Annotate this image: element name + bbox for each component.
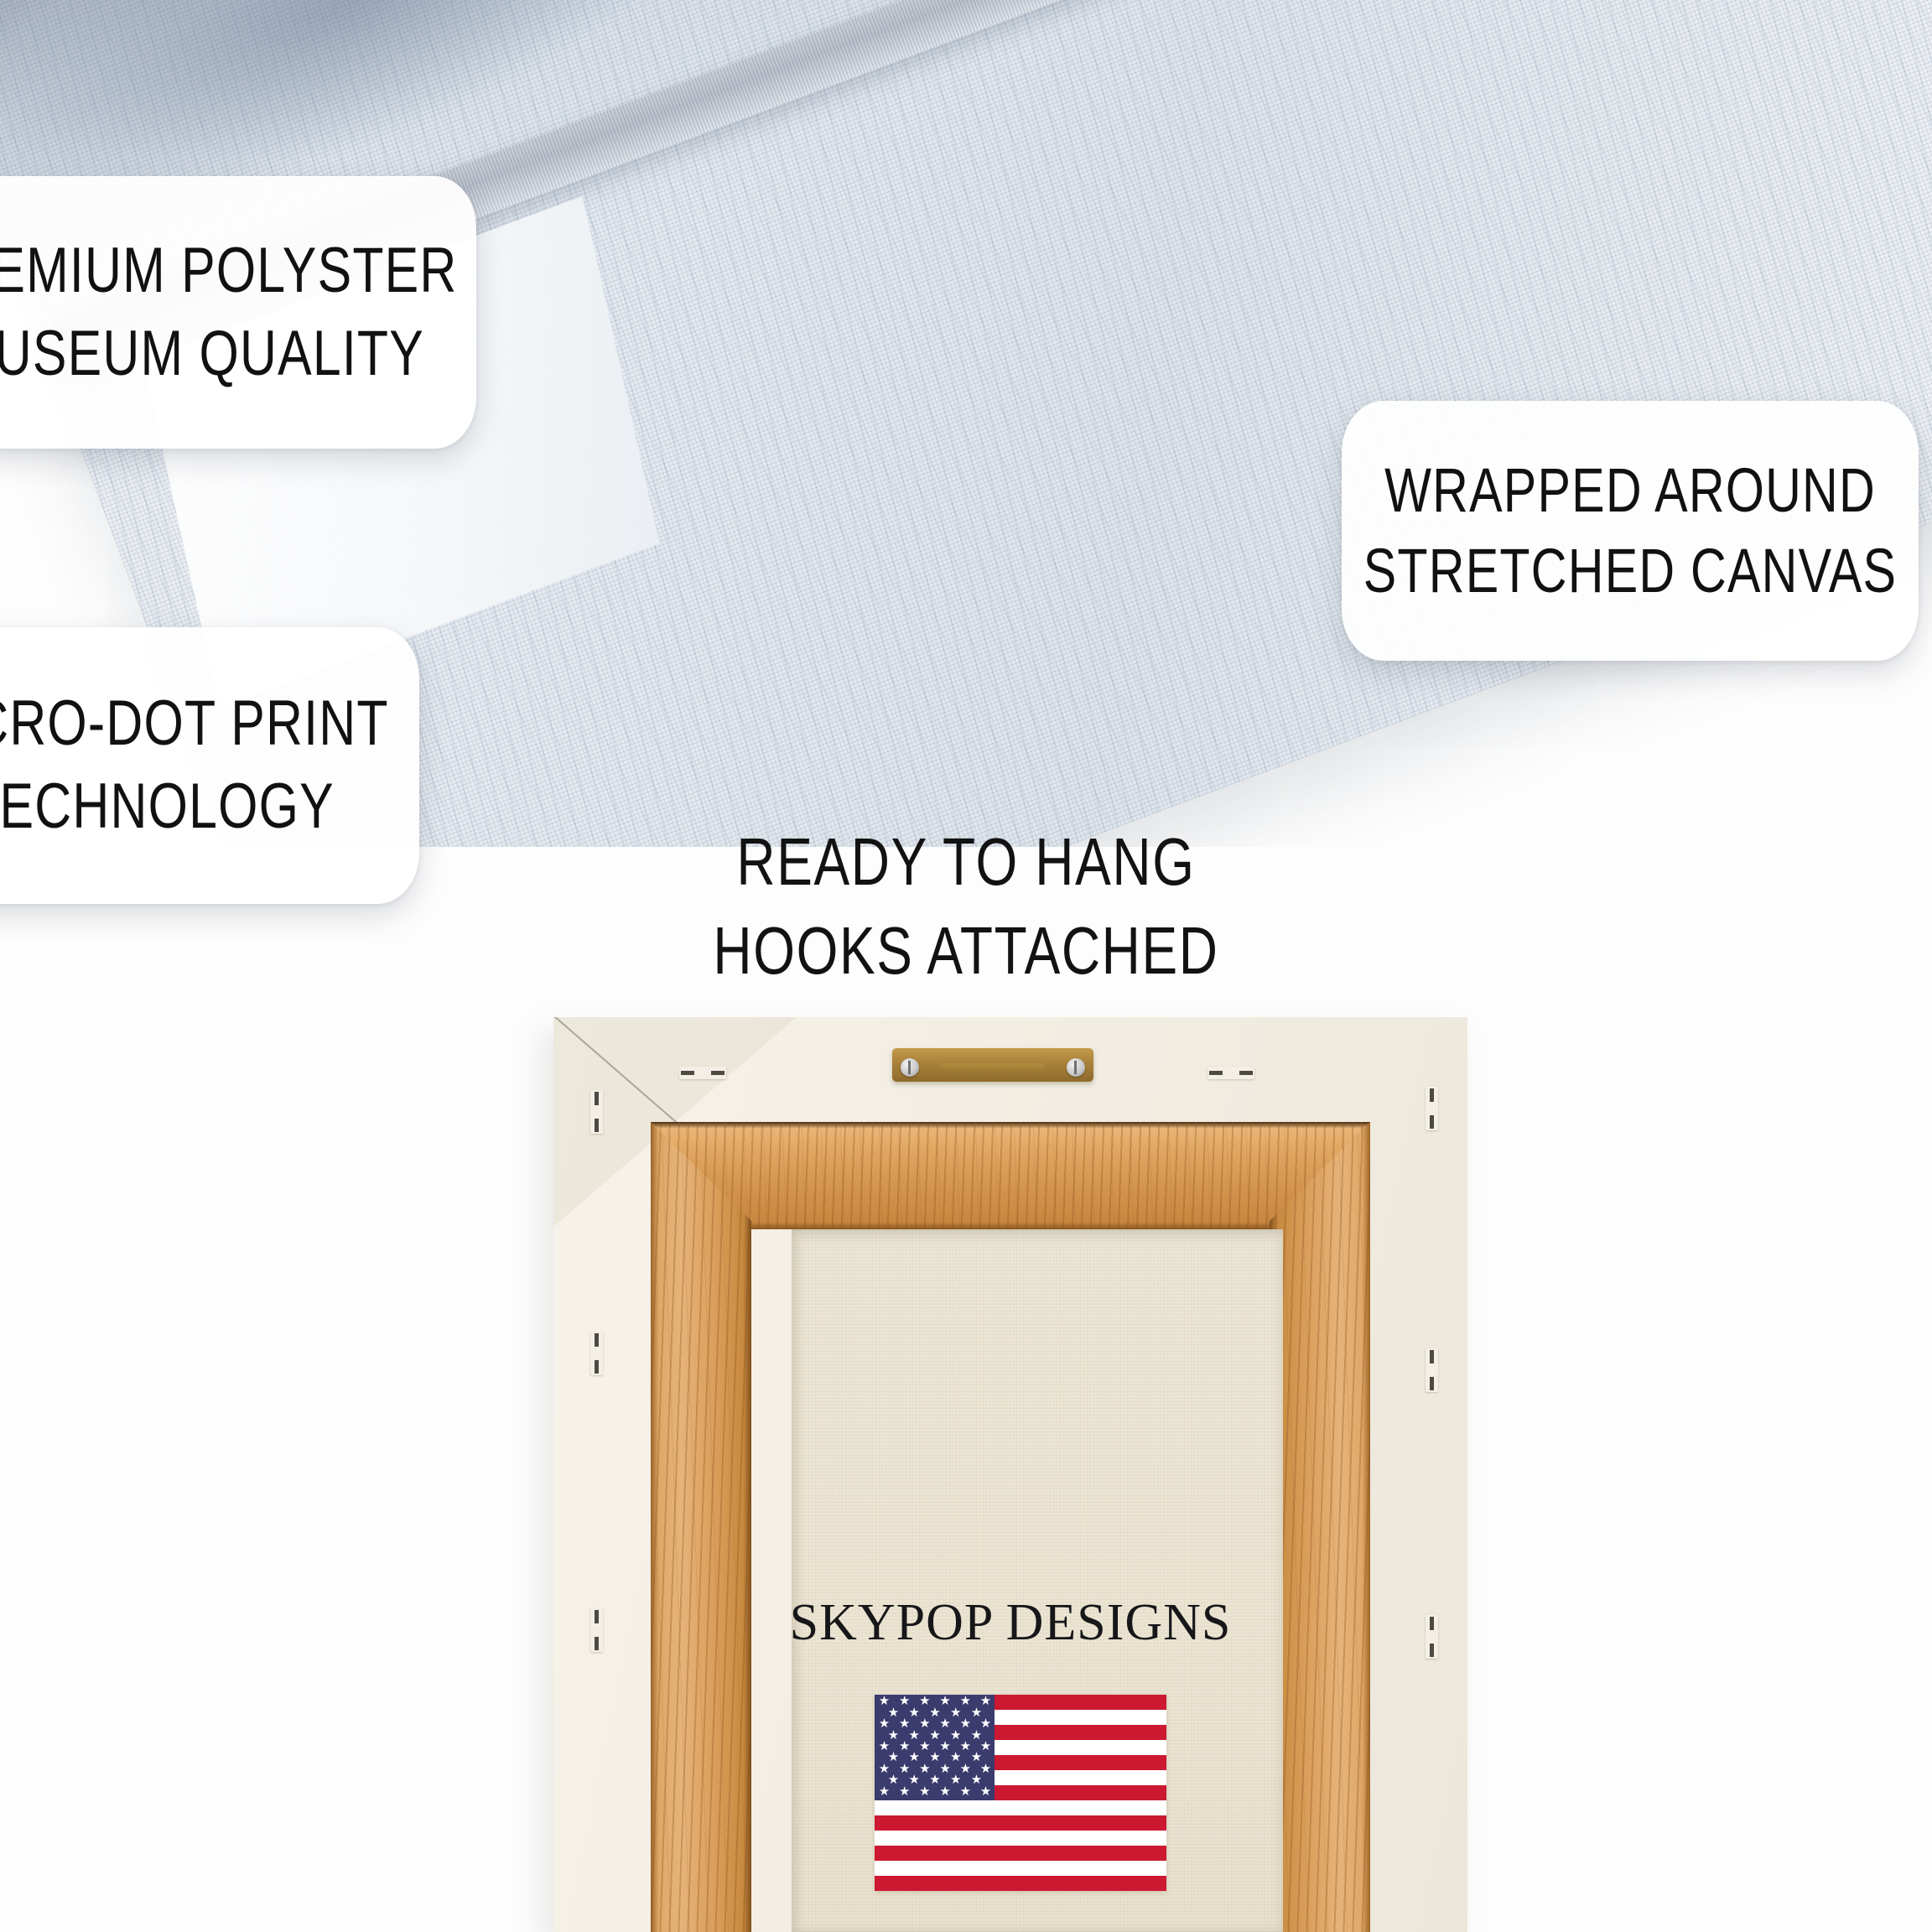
flag-star: ★ [918,1785,931,1798]
staple-top-left [679,1067,726,1079]
staple-left-1 [590,1090,603,1134]
united-states-flag-icon: ★★★★★★★★★★★★★★★★★★★★★★★★★★★★★★★★★★★★★★★★… [875,1695,1166,1891]
headline-line2: HOOKS ATTACHED [193,906,1738,995]
badge-premium-polyster: PREMIUM POLYSTER MUSEUM QUALITY [0,176,476,449]
flag-stripe [875,1815,1166,1831]
badge-premium-line2: MUSEUM QUALITY [0,313,424,396]
badge-premium-line1: PREMIUM POLYSTER [0,230,458,313]
stretcher-bar-right [1270,1122,1370,1932]
sawtooth-hanger [892,1041,1093,1088]
flag-star: ★ [939,1785,952,1798]
wood-grain-texture [1270,1122,1370,1932]
flag-star: ★ [878,1785,891,1798]
hanger-screw-left [901,1058,919,1077]
flag-stripe [875,1861,1166,1876]
wood-grain-texture [651,1122,1370,1229]
badge-wrapped-around: WRAPPED AROUND STRETCHED CANVAS [1342,401,1919,661]
flag-stripe [875,1831,1166,1846]
flag-star: ★ [979,1785,992,1798]
headline-ready-to-hang: READY TO HANG HOOKS ATTACHED [0,818,1932,995]
infographic-stage: PREMIUM POLYSTER MUSEUM QUALITY WRAPPED … [0,0,1932,1932]
flag-stripe [875,1846,1166,1861]
flag-star: ★ [898,1785,911,1798]
wood-grain-texture [651,1122,751,1932]
staple-left-2 [590,1332,603,1375]
staple-top-right [1207,1067,1254,1079]
stretcher-bar-top [651,1122,1370,1229]
badge-wrapped-line1: WRAPPED AROUND [1384,450,1876,531]
flag-stripe [875,1800,1166,1815]
flag-stripe [875,1876,1166,1891]
brand-name: SKYPOP DESIGNS [553,1593,1467,1653]
flag-canton: ★★★★★★★★★★★★★★★★★★★★★★★★★★★★★★★★★★★★★★★★… [875,1695,995,1800]
staple-right-2 [1426,1348,1438,1392]
staple-right-1 [1426,1087,1438,1130]
headline-line1: READY TO HANG [193,818,1738,906]
hanger-screw-right [1067,1058,1085,1077]
badge-microdot-line1: MICRO-DOT PRINT [0,683,389,766]
flag-star: ★ [959,1785,972,1798]
badge-wrapped-line2: STRETCHED CANVAS [1363,531,1898,611]
stretcher-bar-left [651,1122,751,1932]
